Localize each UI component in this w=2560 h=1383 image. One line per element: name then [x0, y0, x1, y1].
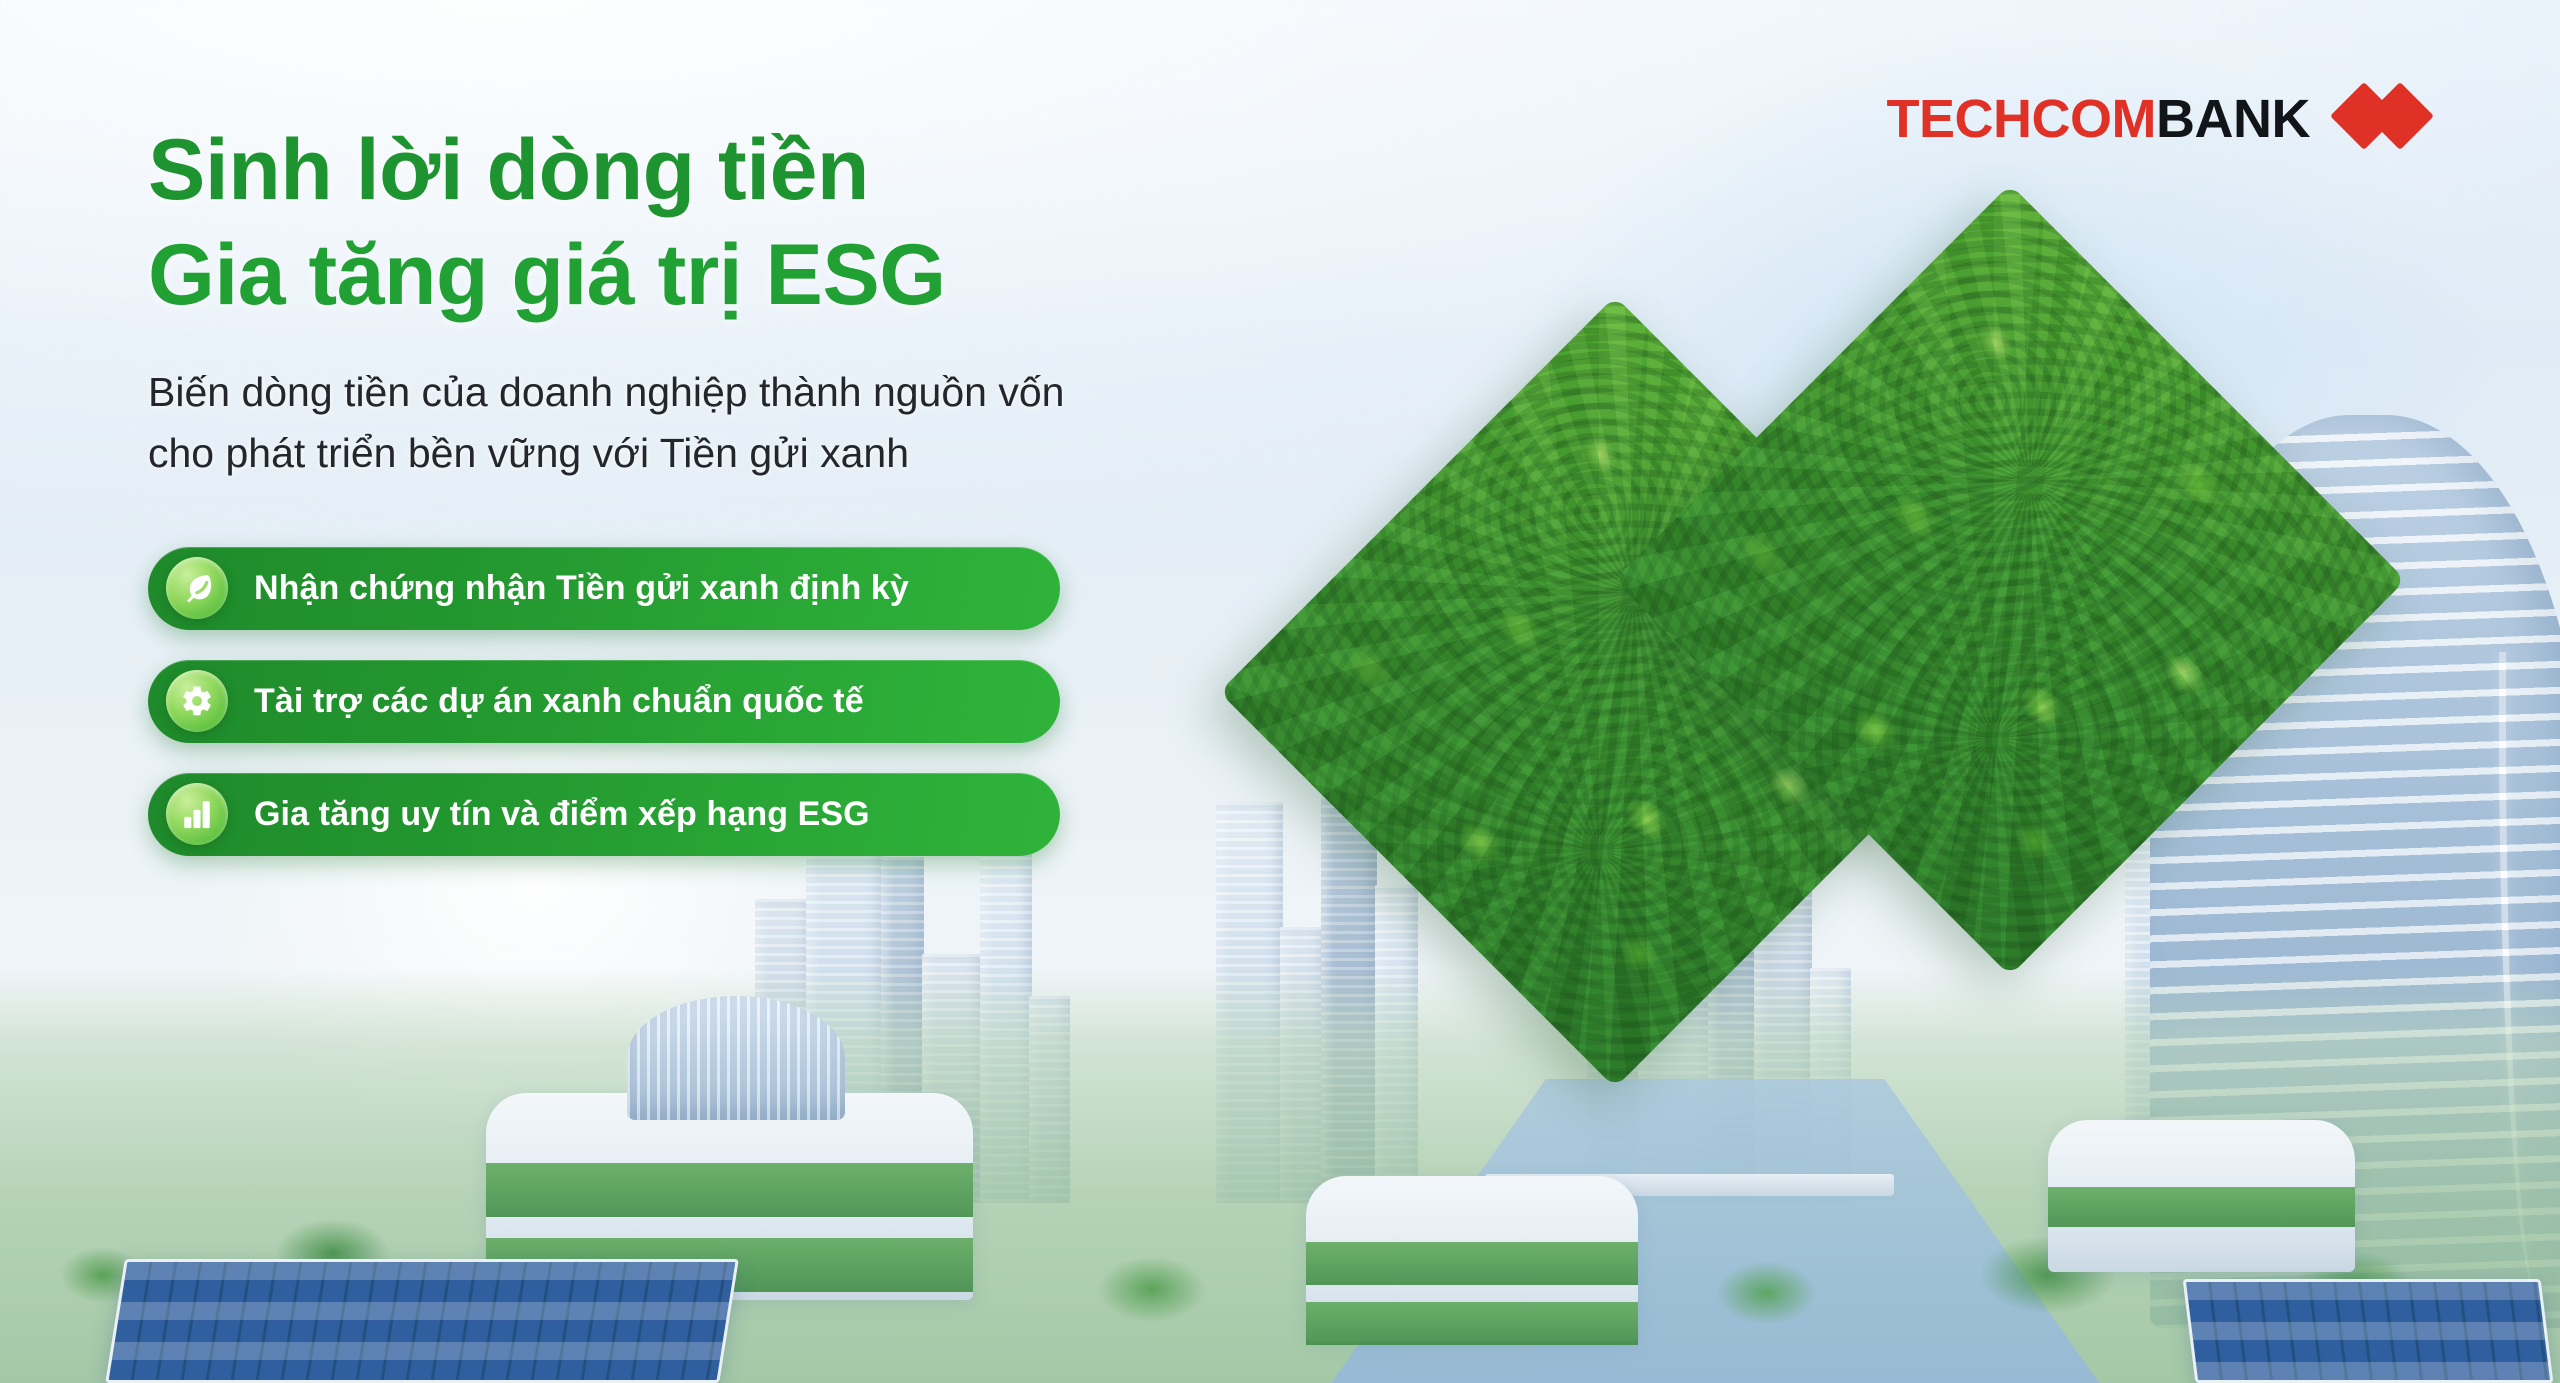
- eco-building-right: [2048, 1120, 2355, 1272]
- feature-pill-certificate[interactable]: Nhận chứng nhận Tiền gửi xanh định kỳ: [148, 547, 1060, 630]
- subheadline-line-2: cho phát triển bền vững với Tiền gửi xan…: [148, 423, 1328, 485]
- bar-chart-icon: [166, 783, 228, 845]
- headline-line-1: Sinh lời dòng tiền: [148, 122, 869, 218]
- hero-content: Sinh lời dòng tiền Gia tăng giá trị ESG …: [148, 118, 1328, 886]
- hero-banner: TECHCOMBANK Sinh lời dòng tiền Gia tăng …: [0, 0, 2560, 1383]
- glass-dome: [627, 996, 845, 1120]
- subheadline-line-1: Biến dòng tiền của doanh nghiệp thành ng…: [148, 362, 1328, 424]
- forest-double-diamond-emblem: [1335, 300, 2395, 1080]
- feature-pill-esg-rating[interactable]: Gia tăng uy tín và điểm xếp hạng ESG: [148, 773, 1060, 856]
- techcombank-logo[interactable]: TECHCOMBANK: [1887, 84, 2436, 154]
- gear-icon: [166, 670, 228, 732]
- headline-line-2: Gia tăng giá trị ESG: [148, 223, 1328, 328]
- double-diamond-icon: [2340, 84, 2436, 154]
- logo-text-techcom: TECHCOM: [1887, 89, 2156, 149]
- leaf-icon: [166, 557, 228, 619]
- logo-text-bank: BANK: [2156, 89, 2310, 149]
- feature-list: Nhận chứng nhận Tiền gửi xanh định kỳ Tà…: [148, 547, 1328, 856]
- feature-pill-label: Gia tăng uy tín và điểm xếp hạng ESG: [254, 795, 870, 834]
- feature-pill-label: Nhận chứng nhận Tiền gửi xanh định kỳ: [254, 569, 909, 608]
- feature-pill-label: Tài trợ các dự án xanh chuẩn quốc tế: [254, 682, 864, 721]
- eco-building-center: [1306, 1176, 1639, 1342]
- page-title: Sinh lời dòng tiền Gia tăng giá trị ESG: [148, 118, 1328, 328]
- solar-panel-right: [2182, 1279, 2553, 1383]
- solar-panel-left: [105, 1259, 739, 1383]
- feature-pill-funding[interactable]: Tài trợ các dự án xanh chuẩn quốc tế: [148, 660, 1060, 743]
- subheadline: Biến dòng tiền của doanh nghiệp thành ng…: [148, 362, 1328, 485]
- logo-wordmark: TECHCOMBANK: [1887, 92, 2310, 146]
